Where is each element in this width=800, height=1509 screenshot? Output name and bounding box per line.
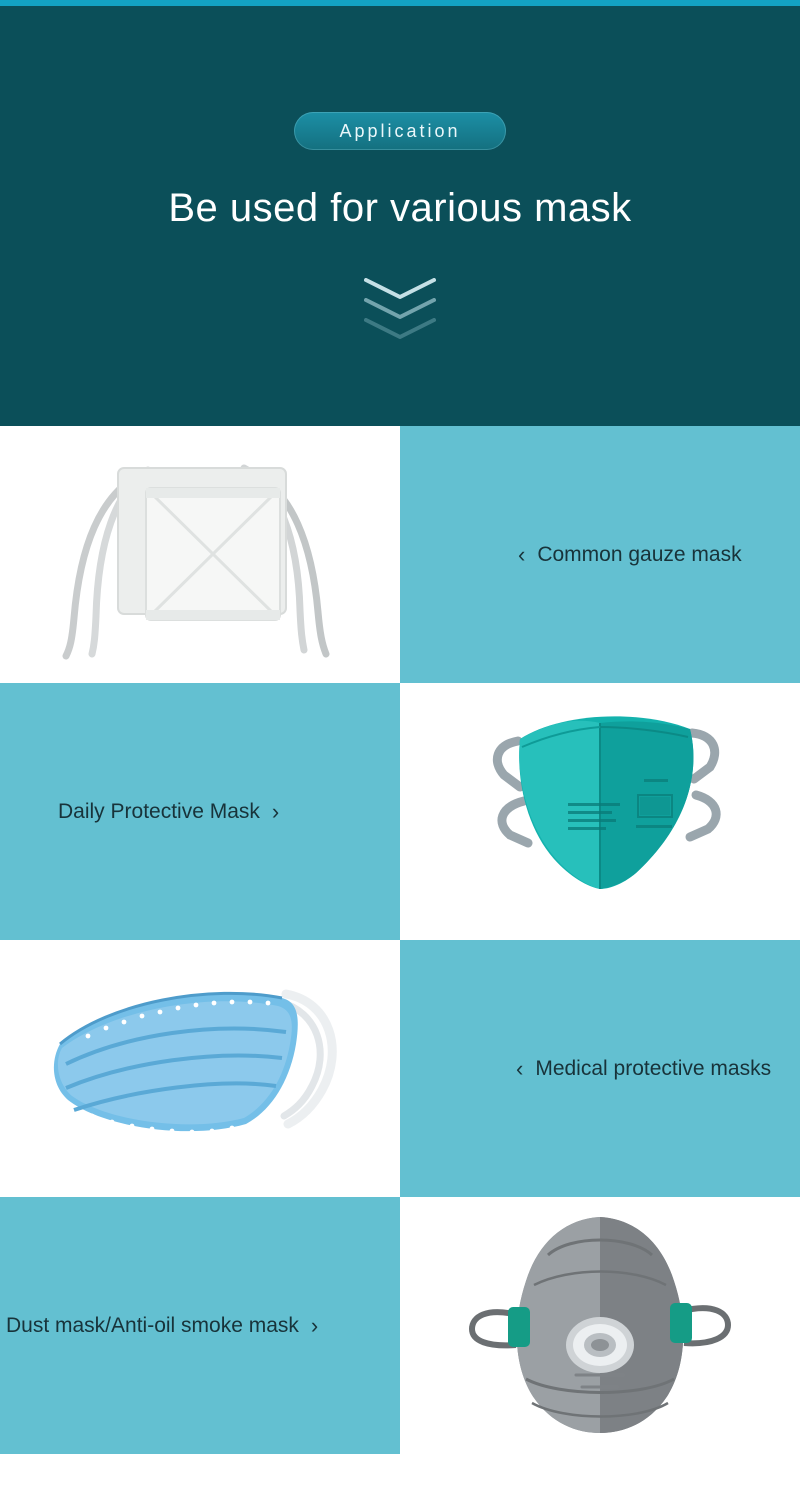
application-badge: Application (294, 112, 506, 150)
chevron-right-icon: › (311, 1315, 318, 1337)
mask-image-kn95 (400, 683, 800, 940)
caption-cell-daily-protective[interactable]: Daily Protective Mask › (0, 683, 400, 940)
caption-cell-medical-protective[interactable]: ‹ Medical protective masks (400, 940, 800, 1197)
caption-text: Daily Protective Mask (58, 800, 260, 824)
hero-section: Application Be used for various mask (0, 0, 800, 426)
caption-text: Dust mask/Anti-oil smoke mask (6, 1314, 299, 1338)
chevron-right-icon: › (272, 801, 279, 823)
caption-cell-common-gauze[interactable]: ‹ Common gauze mask (400, 426, 800, 683)
caption-dust-mask: Dust mask/Anti-oil smoke mask › (6, 1314, 318, 1338)
mask-image-common-gauze (0, 426, 400, 683)
mask-image-dust-valve (400, 1197, 800, 1454)
chevron-left-icon: ‹ (516, 1058, 523, 1080)
dust-mask-illustration (400, 1197, 800, 1454)
bottom-spacer (0, 1454, 800, 1466)
kn95-mask-illustration (400, 683, 800, 940)
caption-text: Common gauze mask (537, 543, 741, 567)
mask-image-surgical (0, 940, 400, 1197)
grid-row: Dust mask/Anti-oil smoke mask › (0, 1197, 800, 1454)
grid-row: Daily Protective Mask › (0, 683, 800, 940)
application-badge-label: Application (339, 121, 460, 142)
gauze-mask-illustration (0, 426, 400, 683)
caption-common-gauze-mask: ‹ Common gauze mask (518, 543, 742, 567)
top-accent-bar (0, 0, 800, 6)
page-title: Be used for various mask (0, 186, 800, 231)
caption-medical-protective-masks: ‹ Medical protective masks (516, 1057, 771, 1081)
surgical-mask-illustration (0, 940, 400, 1197)
chevron-left-icon: ‹ (518, 544, 525, 566)
grid-row: ‹ Medical protective masks (0, 940, 800, 1197)
chevron-down-group (360, 276, 440, 352)
chevron-down-icon (360, 316, 440, 342)
application-page: Application Be used for various mask (0, 0, 800, 1509)
caption-text: Medical protective masks (535, 1057, 771, 1081)
grid-row: ‹ Common gauze mask (0, 426, 800, 683)
application-grid: ‹ Common gauze mask Daily Protective Mas… (0, 426, 800, 1454)
caption-cell-dust-mask[interactable]: Dust mask/Anti-oil smoke mask › (0, 1197, 400, 1454)
caption-daily-protective-mask: Daily Protective Mask › (58, 800, 279, 824)
